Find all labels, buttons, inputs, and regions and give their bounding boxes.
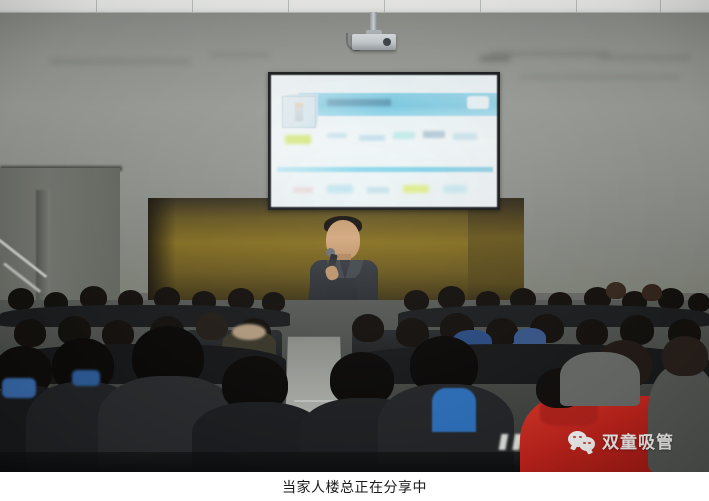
audience-clothing-blue xyxy=(432,388,476,432)
photo-page: 双童吸管 当家人楼总正在分享中 xyxy=(0,0,709,501)
projection-screen xyxy=(268,72,500,210)
audience-head xyxy=(352,314,384,342)
slide-title-text xyxy=(327,99,391,106)
wall-shadow xyxy=(50,59,190,64)
slide-divider xyxy=(277,167,493,172)
slide-text-row xyxy=(327,133,347,138)
audience-body-mass xyxy=(344,344,709,384)
ceiling-tile-line xyxy=(288,0,289,12)
slide-chip-yellow xyxy=(403,185,429,193)
photo-caption: 当家人楼总正在分享中 xyxy=(282,477,427,497)
audience-head xyxy=(8,288,34,310)
wechat-eye xyxy=(573,436,576,439)
audience-head xyxy=(642,284,662,301)
slide-photo-thumbnail xyxy=(282,96,316,128)
fur-hood xyxy=(232,324,266,340)
wall-shadow xyxy=(210,53,270,57)
watermark-brand-text: 双童吸管 xyxy=(602,428,674,453)
photo-image: 双童吸管 xyxy=(0,0,709,472)
ceiling-tile-line xyxy=(480,0,481,12)
ceiling-tile-line xyxy=(660,0,661,12)
audience-head xyxy=(606,282,626,299)
ceiling-tile-line xyxy=(384,0,385,12)
audience-head-foreground xyxy=(662,336,708,376)
ceiling-tile-line xyxy=(96,0,97,12)
ceiling-tile-line xyxy=(576,0,577,12)
watermark: 双童吸管 xyxy=(568,428,674,453)
wechat-icon xyxy=(568,431,596,451)
slide-text-row xyxy=(453,133,477,140)
wall-shadow xyxy=(520,75,680,79)
slide-chip-cyan xyxy=(393,132,415,139)
wall-shadow xyxy=(480,55,510,62)
ceiling-tile-line xyxy=(192,0,193,12)
slide-logo xyxy=(467,96,489,109)
audience-head xyxy=(14,319,46,347)
slide-text-row xyxy=(293,187,313,193)
projection-screen-surface xyxy=(271,75,497,207)
slide-text-row xyxy=(367,187,389,193)
audience-clothing-blue xyxy=(2,378,36,398)
audience-clothing-blue xyxy=(72,370,100,386)
projector-mount-pole xyxy=(370,12,377,32)
wechat-eye xyxy=(588,442,591,445)
audience-shoulders-foreground xyxy=(648,364,709,472)
wechat-eye xyxy=(583,442,586,445)
wall-shadow xyxy=(600,55,690,60)
slide-text-row xyxy=(423,131,445,138)
left-recess xyxy=(0,168,120,303)
caption-bar: 当家人楼总正在分享中 xyxy=(0,472,709,501)
slide-chip-blue xyxy=(327,185,353,193)
foreground-shadow xyxy=(0,452,520,472)
audience-clothing-grey xyxy=(560,352,640,406)
projector-lens xyxy=(383,38,391,46)
audience-head xyxy=(196,312,228,340)
audience-head xyxy=(576,319,608,347)
slide-chip-green xyxy=(285,135,311,144)
slide-chip-blue xyxy=(443,185,467,193)
slide-text-row xyxy=(359,135,385,141)
wechat-bubble-small xyxy=(579,437,595,451)
thumbnail-person xyxy=(295,103,303,121)
